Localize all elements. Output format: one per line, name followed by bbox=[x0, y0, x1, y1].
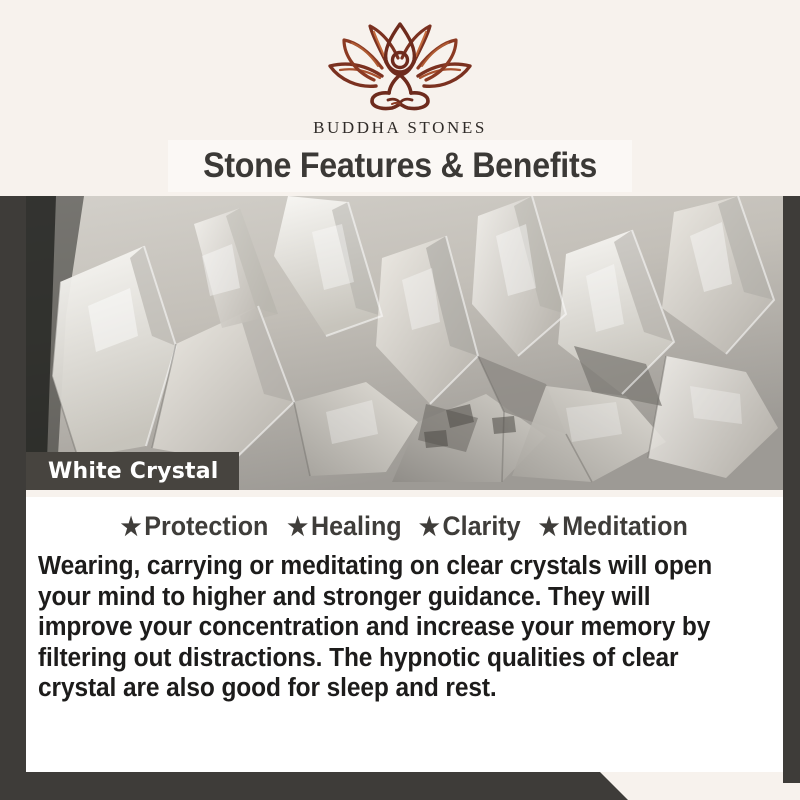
star-icon: ★ bbox=[419, 513, 443, 541]
benefit-item: ★Clarity bbox=[419, 511, 521, 542]
lotus-meditation-icon bbox=[320, 18, 480, 114]
brand-name: BUDDHA STONES bbox=[0, 118, 800, 138]
benefits-row: ★Protection★Healing★Clarity★Meditation bbox=[26, 511, 783, 542]
brand-block: BUDDHA STONES bbox=[0, 18, 800, 138]
description-text: Wearing, carrying or meditating on clear… bbox=[38, 551, 740, 704]
page-title: Stone Features & Benefits bbox=[203, 146, 597, 186]
photo-caption-label: White Crystal bbox=[48, 459, 219, 484]
benefit-item: ★Meditation bbox=[539, 511, 688, 542]
star-icon: ★ bbox=[539, 513, 563, 541]
star-icon: ★ bbox=[287, 513, 311, 541]
benefit-label: Healing bbox=[311, 511, 402, 541]
poster: BUDDHA STONES Stone Features & Benefits bbox=[0, 0, 800, 800]
header: BUDDHA STONES Stone Features & Benefits bbox=[0, 0, 800, 196]
photo-caption: White Crystal bbox=[26, 452, 239, 490]
crystal-cluster-illustration bbox=[26, 196, 783, 490]
decorative-bottom-bar bbox=[0, 772, 800, 800]
title-banner: Stone Features & Benefits bbox=[168, 140, 632, 192]
body-block: ★Protection★Healing★Clarity★Meditation W… bbox=[26, 497, 783, 772]
white-crystal-photo bbox=[26, 196, 783, 490]
benefit-item: ★Healing bbox=[287, 511, 401, 542]
benefit-label: Meditation bbox=[563, 511, 689, 541]
star-icon: ★ bbox=[121, 513, 145, 541]
decorative-left-edge-bar bbox=[0, 192, 26, 772]
benefit-item: ★Protection bbox=[121, 511, 269, 542]
benefit-label: Clarity bbox=[442, 511, 520, 541]
benefit-label: Protection bbox=[144, 511, 268, 541]
